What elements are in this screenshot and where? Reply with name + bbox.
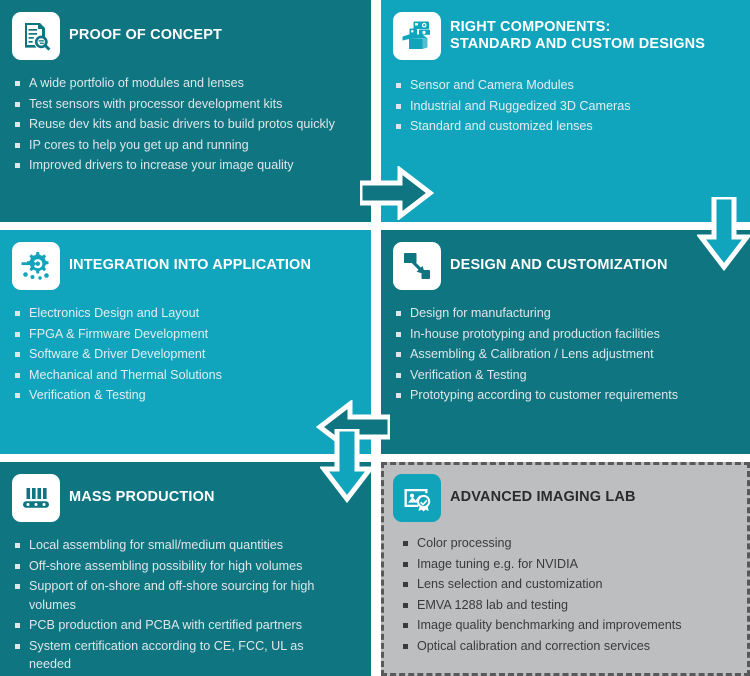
resize-scale-icon — [393, 242, 441, 290]
arrow-components-to-design — [697, 197, 750, 271]
arrow-poc-to-components — [360, 166, 434, 220]
gear-integration-icon — [12, 242, 60, 290]
panel-title-line-1: RIGHT COMPONENTS: — [450, 19, 705, 36]
list-item: Image quality benchmarking and improveme… — [402, 616, 733, 635]
image-certified-icon — [393, 474, 441, 522]
list-item: Design for manufacturing — [395, 304, 736, 323]
panel-right-components[interactable]: RIGHT COMPONENTS: STANDARD AND CUSTOM DE… — [381, 0, 750, 222]
list-item: Verification & Testing — [395, 366, 736, 385]
bullet-list: A wide portfolio of modules and lenses T… — [14, 74, 357, 175]
panel-header: PROOF OF CONCEPT — [0, 0, 371, 60]
panel-header: DESIGN AND CUSTOMIZATION — [381, 230, 750, 290]
list-item: Sensor and Camera Modules — [395, 76, 736, 95]
list-item: Improved drivers to increase your image … — [14, 156, 357, 175]
list-item: IP cores to help you get up and running — [14, 136, 357, 155]
panel-title: PROOF OF CONCEPT — [69, 27, 222, 44]
bullet-list: Local assembling for small/medium quanti… — [14, 536, 349, 676]
list-item: System certification according to CE, FC… — [14, 637, 349, 674]
arrow-integration-to-mass-production — [320, 429, 374, 503]
panel-title: MASS PRODUCTION — [69, 489, 215, 506]
list-item: PCB production and PCBA with certified p… — [14, 616, 349, 635]
list-item: Color processing — [402, 534, 733, 553]
panel-header: INTEGRATION INTO APPLICATION — [0, 230, 371, 290]
panel-title-line-2: STANDARD AND CUSTOM DESIGNS — [450, 36, 705, 53]
list-item: Electronics Design and Layout — [14, 304, 357, 323]
bullet-list: Design for manufacturing In-house protot… — [395, 304, 736, 405]
panel-advanced-imaging-lab[interactable]: ADVANCED IMAGING LAB Color processing Im… — [381, 462, 750, 676]
list-item: Local assembling for small/medium quanti… — [14, 536, 349, 555]
list-item: Support of on-shore and off-shore sourci… — [14, 577, 349, 614]
list-item: Image tuning e.g. for NVIDIA — [402, 555, 733, 574]
panel-header: RIGHT COMPONENTS: STANDARD AND CUSTOM DE… — [381, 0, 750, 60]
panel-mass-production[interactable]: MASS PRODUCTION Local assembling for sma… — [0, 462, 371, 676]
bullet-list: Sensor and Camera Modules Industrial and… — [395, 76, 736, 136]
conveyor-belt-icon — [12, 474, 60, 522]
bullet-list: Electronics Design and Layout FPGA & Fir… — [14, 304, 357, 405]
list-item: Prototyping according to customer requir… — [395, 386, 736, 405]
list-item: Reuse dev kits and basic drivers to buil… — [14, 115, 357, 134]
list-item: Optical calibration and correction servi… — [402, 637, 733, 656]
panel-header: MASS PRODUCTION — [0, 462, 371, 522]
list-item: Standard and customized lenses — [395, 117, 736, 136]
list-item: Software & Driver Development — [14, 345, 357, 364]
panel-title: RIGHT COMPONENTS: STANDARD AND CUSTOM DE… — [450, 19, 705, 53]
component-box-icon — [393, 12, 441, 60]
document-magnifier-icon — [12, 12, 60, 60]
list-item: In-house prototyping and production faci… — [395, 325, 736, 344]
panel-design-and-customization[interactable]: DESIGN AND CUSTOMIZATION Design for manu… — [381, 230, 750, 454]
bullet-list: Color processing Image tuning e.g. for N… — [402, 534, 733, 655]
panel-header: ADVANCED IMAGING LAB — [384, 465, 747, 522]
list-item: EMVA 1288 lab and testing — [402, 596, 733, 615]
list-item: Industrial and Ruggedized 3D Cameras — [395, 97, 736, 116]
list-item: Lens selection and customization — [402, 575, 733, 594]
list-item: Mechanical and Thermal Solutions — [14, 366, 357, 385]
list-item: Test sensors with processor development … — [14, 95, 357, 114]
panel-title: INTEGRATION INTO APPLICATION — [69, 257, 311, 274]
list-item: Verification & Testing — [14, 386, 357, 405]
panel-title: ADVANCED IMAGING LAB — [450, 489, 636, 506]
list-item: A wide portfolio of modules and lenses — [14, 74, 357, 93]
list-item: FPGA & Firmware Development — [14, 325, 357, 344]
process-flow-diagram: PROOF OF CONCEPT A wide portfolio of mod… — [0, 0, 750, 676]
list-item: Off-shore assembling possibility for hig… — [14, 557, 349, 576]
list-item: Assembling & Calibration / Lens adjustme… — [395, 345, 736, 364]
panel-proof-of-concept[interactable]: PROOF OF CONCEPT A wide portfolio of mod… — [0, 0, 371, 222]
panel-title: DESIGN AND CUSTOMIZATION — [450, 257, 668, 274]
